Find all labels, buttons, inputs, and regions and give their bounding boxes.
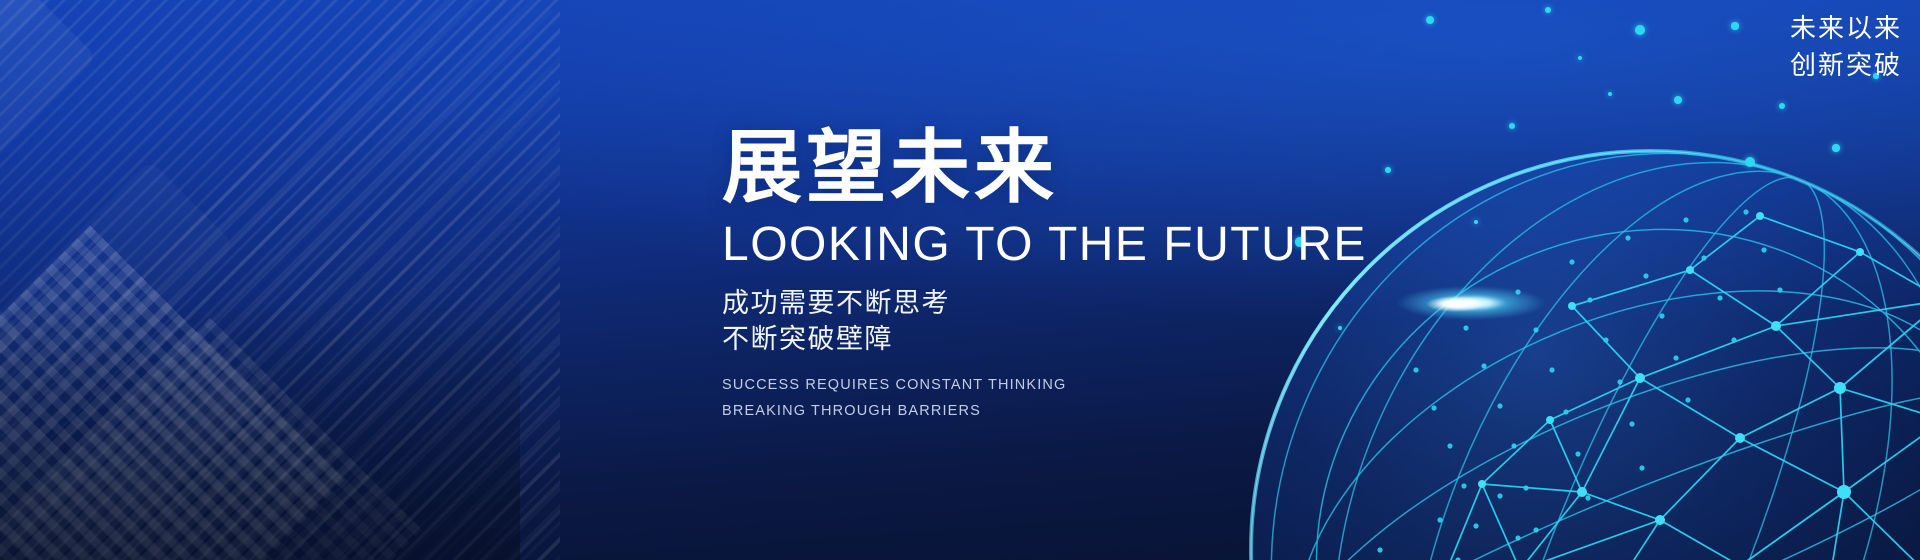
spark-dot xyxy=(1509,123,1515,129)
tagline-cn-line1: 成功需要不断思考 xyxy=(722,286,1367,322)
tagline-en-line2: BREAKING THROUGH BARRIERS xyxy=(722,398,1367,425)
spark-dot xyxy=(1474,220,1479,225)
spark-dot xyxy=(1578,56,1582,60)
tagline-cn-line2: 不断突破壁障 xyxy=(722,322,1367,358)
hero-copy-block: 展望未来 LOOKING TO THE FUTURE 成功需要不断思考 不断突破… xyxy=(722,128,1367,425)
spark-dot xyxy=(1426,16,1434,24)
tagline-en-line1: SUCCESS REQUIRES CONSTANT THINKING xyxy=(722,372,1367,399)
corner-slogan-line1: 未来以来 xyxy=(1790,10,1902,47)
spark-dot xyxy=(1608,92,1612,96)
spark-dot xyxy=(1545,7,1551,13)
hero-banner: 展望未来 LOOKING TO THE FUTURE 成功需要不断思考 不断突破… xyxy=(0,0,1920,560)
spark-dot xyxy=(1385,167,1391,173)
corner-slogan-line2: 创新突破 xyxy=(1790,47,1902,84)
spark-dot xyxy=(1635,25,1645,35)
spark-dot xyxy=(1832,144,1839,151)
subtitle-english: LOOKING TO THE FUTURE xyxy=(722,220,1367,270)
spark-dot xyxy=(1779,103,1786,110)
spark-dot xyxy=(1731,22,1738,29)
corner-slogan: 未来以来 创新突破 xyxy=(1790,10,1902,84)
spark-dot xyxy=(1745,157,1756,168)
page-title: 展望未来 xyxy=(722,128,1367,208)
spark-dot xyxy=(1674,96,1682,104)
